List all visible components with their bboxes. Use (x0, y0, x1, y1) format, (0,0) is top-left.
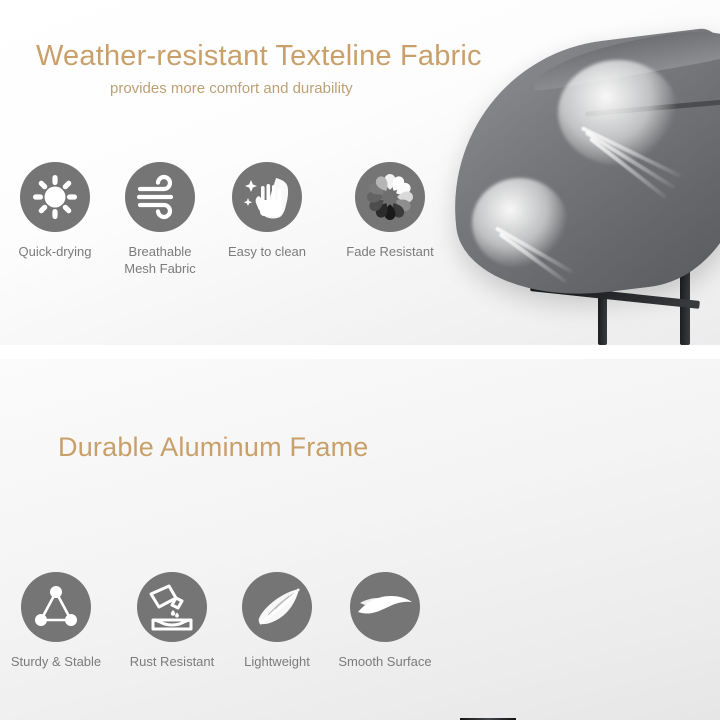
feature-lightweight: Lightweight (222, 572, 332, 670)
page-subtitle: provides more comfort and durability (110, 80, 353, 97)
section-title: Durable Aluminum Frame (58, 432, 369, 463)
hand-wipe-icon (232, 162, 302, 232)
feature-fade-resistant: Fade Resistant (335, 162, 445, 260)
feature-smooth-surface: Smooth Surface (330, 572, 440, 670)
bottom-panel: Durable Aluminum Frame Sturdy & Stable (0, 359, 720, 720)
water-spray (558, 60, 678, 165)
dropper-surface-icon (137, 572, 207, 642)
page-title: Weather-resistant Texteline Fabric (36, 40, 482, 73)
sun-icon (20, 162, 90, 232)
panel-divider (0, 345, 720, 359)
triangle-nodes-icon (21, 572, 91, 642)
feature-label: Breathable Mesh Fabric (105, 243, 215, 277)
feature-label: Smooth Surface (330, 653, 440, 670)
feature-label: Fade Resistant (335, 243, 445, 260)
smooth-wave-icon (350, 572, 420, 642)
feature-label: Easy to clean (212, 243, 322, 260)
product-infographic: Weather-resistant Texteline Fabric provi… (0, 0, 720, 720)
feature-easy-to-clean: Easy to clean (212, 162, 322, 260)
feature-label: Rust Resistant (117, 653, 227, 670)
fade-petals-icon (355, 162, 425, 232)
feature-sturdy-stable: Sturdy & Stable (1, 572, 111, 670)
wind-icon (125, 162, 195, 232)
feather-icon (242, 572, 312, 642)
feature-breathable: Breathable Mesh Fabric (105, 162, 215, 277)
top-panel: Weather-resistant Texteline Fabric provi… (0, 0, 720, 345)
feature-label: Quick-drying (0, 243, 110, 260)
feature-quick-drying: Quick-drying (0, 162, 110, 260)
feature-label: Sturdy & Stable (1, 653, 111, 670)
feature-rust-resistant: Rust Resistant (117, 572, 227, 670)
water-spray (472, 178, 567, 268)
feature-label: Lightweight (222, 653, 332, 670)
